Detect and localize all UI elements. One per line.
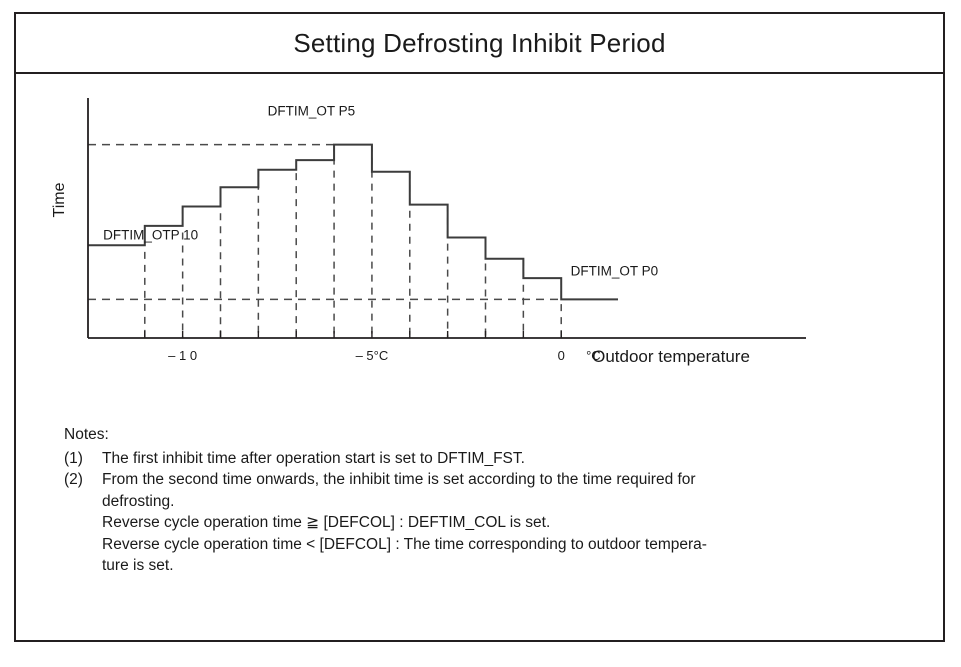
note-text-continued: defrosting. xyxy=(102,491,914,513)
step-chart: – 1 0– 5°C0°C DFTIM_OTP 10DFTIM_OT P5DFT… xyxy=(46,88,866,388)
note-text-continued: Reverse cycle operation time ≧ [DEFCOL] … xyxy=(102,512,914,534)
chart-reference-levels xyxy=(88,145,561,300)
step-series-path xyxy=(88,145,618,300)
page-title: Setting Defrosting Inhibit Period xyxy=(293,28,665,59)
notes-section: Notes: (1)The first inhibit time after o… xyxy=(64,424,914,577)
chart-tick-labels: – 1 0– 5°C0°C xyxy=(168,348,601,363)
notes-heading: Notes: xyxy=(64,424,914,446)
title-band: Setting Defrosting Inhibit Period xyxy=(16,14,943,74)
series-label-0: DFTIM_OTP 10 xyxy=(103,227,198,242)
note-text: The first inhibit time after operation s… xyxy=(102,448,914,470)
y-axis-title: Time xyxy=(51,182,68,217)
chart-tick-marks xyxy=(145,331,561,338)
document-body: – 1 0– 5°C0°C DFTIM_OTP 10DFTIM_OT P5DFT… xyxy=(16,74,943,640)
chart-annotations: DFTIM_OTP 10DFTIM_OT P5DFTIM_OT P0 xyxy=(103,104,658,279)
note-marker: (1) xyxy=(64,448,102,470)
note-text-continued: Reverse cycle operation time < [DEFCOL] … xyxy=(102,534,914,556)
chart-grid-dashed xyxy=(145,145,561,338)
notes-list: (1)The first inhibit time after operatio… xyxy=(64,448,914,577)
x-axis-tick-label: – 1 0 xyxy=(168,348,197,363)
note-item: (1)The first inhibit time after operatio… xyxy=(64,448,914,470)
note-item: (2)From the second time onwards, the inh… xyxy=(64,469,914,491)
series-label-1: DFTIM_OT P5 xyxy=(268,104,356,119)
x-axis-title: Outdoor temperature xyxy=(592,347,750,366)
note-text: From the second time onwards, the inhibi… xyxy=(102,469,914,491)
chart-canvas: – 1 0– 5°C0°C DFTIM_OTP 10DFTIM_OT P5DFT… xyxy=(46,88,866,388)
page-root: Setting Defrosting Inhibit Period – 1 0–… xyxy=(0,0,961,667)
note-text-continued: ture is set. xyxy=(102,555,914,577)
series-label-2: DFTIM_OT P0 xyxy=(571,263,659,278)
note-marker: (2) xyxy=(64,469,102,491)
x-axis-tick-label: – 5°C xyxy=(356,348,389,363)
document-frame: Setting Defrosting Inhibit Period – 1 0–… xyxy=(14,12,945,642)
chart-step-series xyxy=(88,145,618,300)
x-axis-tick-label: 0 xyxy=(558,348,565,363)
